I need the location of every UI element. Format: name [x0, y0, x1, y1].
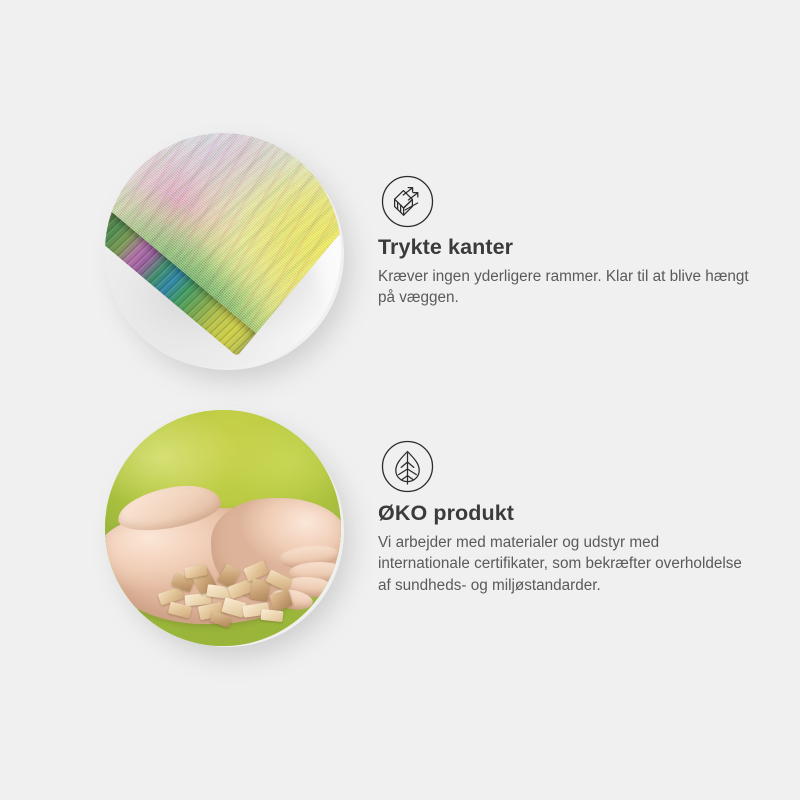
feature-text-column-1: Trykte kanter Kræver ingen yderligere ra…	[378, 235, 778, 309]
canvas-corner-photo	[105, 133, 341, 369]
feature-title: ØKO produkt	[378, 501, 778, 526]
canvas-scene-backdrop	[105, 133, 341, 369]
feature-block-printed-edges: Trykte kanter Kræver ingen yderligere ra…	[0, 120, 800, 385]
leaf-icon	[381, 440, 434, 493]
feature-description: Kræver ingen yderligere rammer. Klar til…	[378, 266, 750, 309]
product-features-page: Trykte kanter Kræver ingen yderligere ra…	[0, 0, 800, 800]
hands-wood-chips-photo-inner	[105, 410, 341, 646]
printed-edges-icon	[381, 175, 434, 228]
feature-text-column-2: ØKO produkt Vi arbejder med materialer o…	[378, 501, 778, 597]
wood-chip-pile	[155, 560, 297, 634]
cupped-hands	[105, 482, 341, 632]
canvas-corner-photo-inner	[105, 133, 341, 369]
feature-description: Vi arbejder med materialer og udstyr med…	[378, 532, 750, 597]
feature-title: Trykte kanter	[378, 235, 778, 260]
meadow-backdrop	[105, 410, 341, 646]
feature-block-eco-product: ØKO produkt Vi arbejder med materialer o…	[0, 398, 800, 658]
hands-wood-chips-photo	[105, 410, 341, 646]
